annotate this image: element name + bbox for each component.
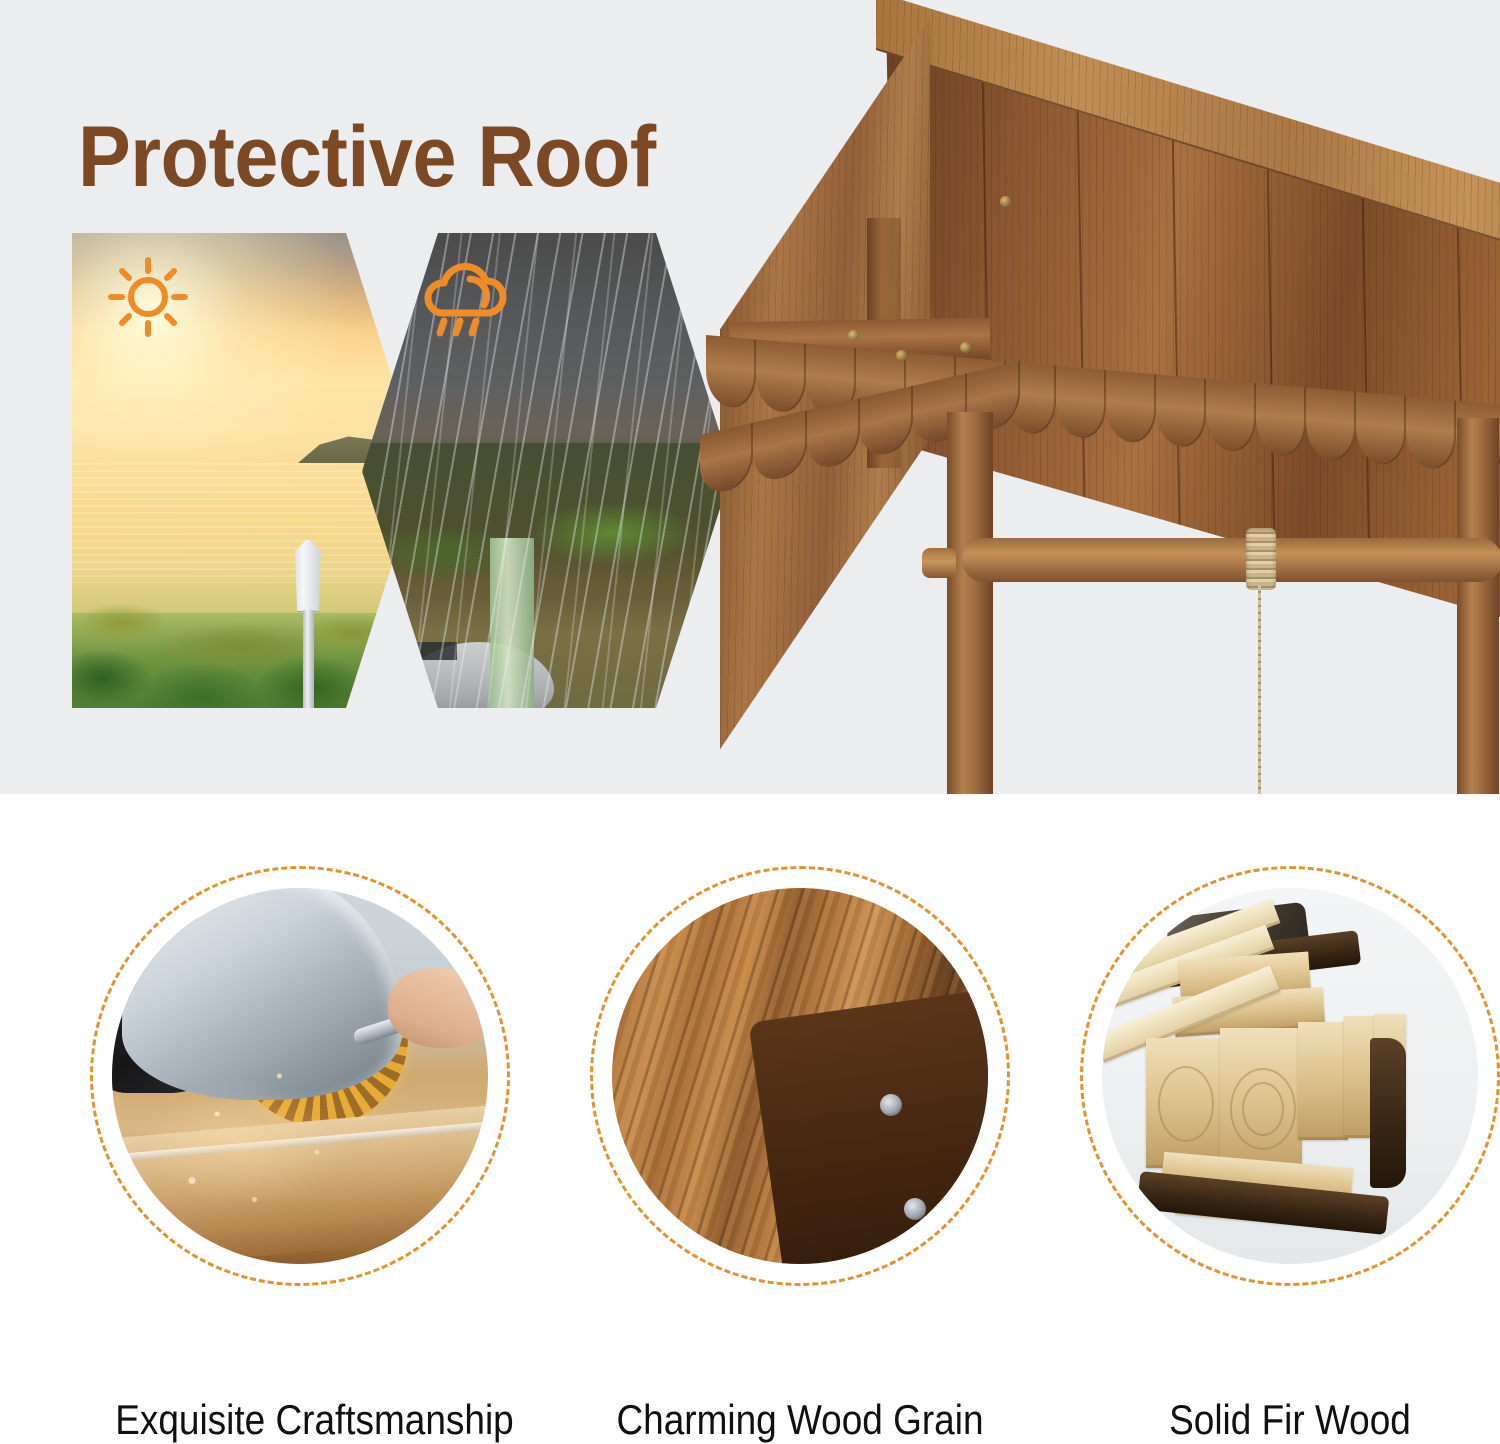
screw-icon	[904, 1198, 926, 1220]
lamp-pole	[303, 610, 314, 708]
feature-item-fir-wood: Solid Fir Wood	[1080, 866, 1500, 1286]
growth-ring	[1242, 1082, 1284, 1136]
rain-cloud-icon	[418, 255, 514, 349]
lamp-head	[291, 538, 325, 612]
features-section: Exquisite Craftsmanship Charming Wood Gr…	[0, 794, 1500, 1399]
product-photo-roof	[700, 0, 1500, 794]
feature-photo-craftsmanship	[112, 888, 488, 1264]
protective-roof-section: Protective Roof	[0, 0, 1500, 794]
feature-caption-craftsmanship: Exquisite Craftsmanship	[115, 1396, 485, 1444]
screw-icon	[848, 330, 859, 341]
protection-panels: Sun Water	[72, 233, 732, 708]
screw-icon	[960, 342, 971, 353]
lumber-piece	[1298, 1022, 1348, 1140]
feature-caption-fir-wood: Solid Fir Wood	[1105, 1396, 1475, 1444]
growth-ring	[1158, 1066, 1214, 1142]
log-crossbar	[962, 538, 1500, 582]
operator-hand	[388, 968, 488, 1048]
feature-photo-fir-wood	[1102, 888, 1478, 1264]
garden-lamp-post	[284, 538, 332, 708]
rope-wrap	[1246, 528, 1276, 590]
foreground-foliage	[72, 528, 422, 708]
sawdust-spray	[142, 1038, 392, 1228]
page-title: Protective Roof	[78, 108, 656, 207]
dark-wood-panel	[748, 988, 988, 1264]
support-post-left	[947, 412, 993, 794]
feature-photo-wood-grain	[612, 888, 988, 1264]
screw-icon	[1000, 196, 1011, 207]
screw-icon	[880, 1094, 902, 1116]
screw-icon	[896, 350, 907, 361]
feature-item-craftsmanship: Exquisite Craftsmanship	[90, 866, 510, 1286]
feature-caption-wood-grain: Charming Wood Grain	[615, 1396, 985, 1444]
support-post-right	[1457, 418, 1499, 794]
crossbar-peg	[922, 548, 956, 578]
sun-icon	[106, 255, 190, 339]
bark-edge-right	[1370, 1038, 1406, 1188]
hanging-string	[1258, 586, 1261, 794]
feature-item-wood-grain: Charming Wood Grain	[590, 866, 1010, 1286]
